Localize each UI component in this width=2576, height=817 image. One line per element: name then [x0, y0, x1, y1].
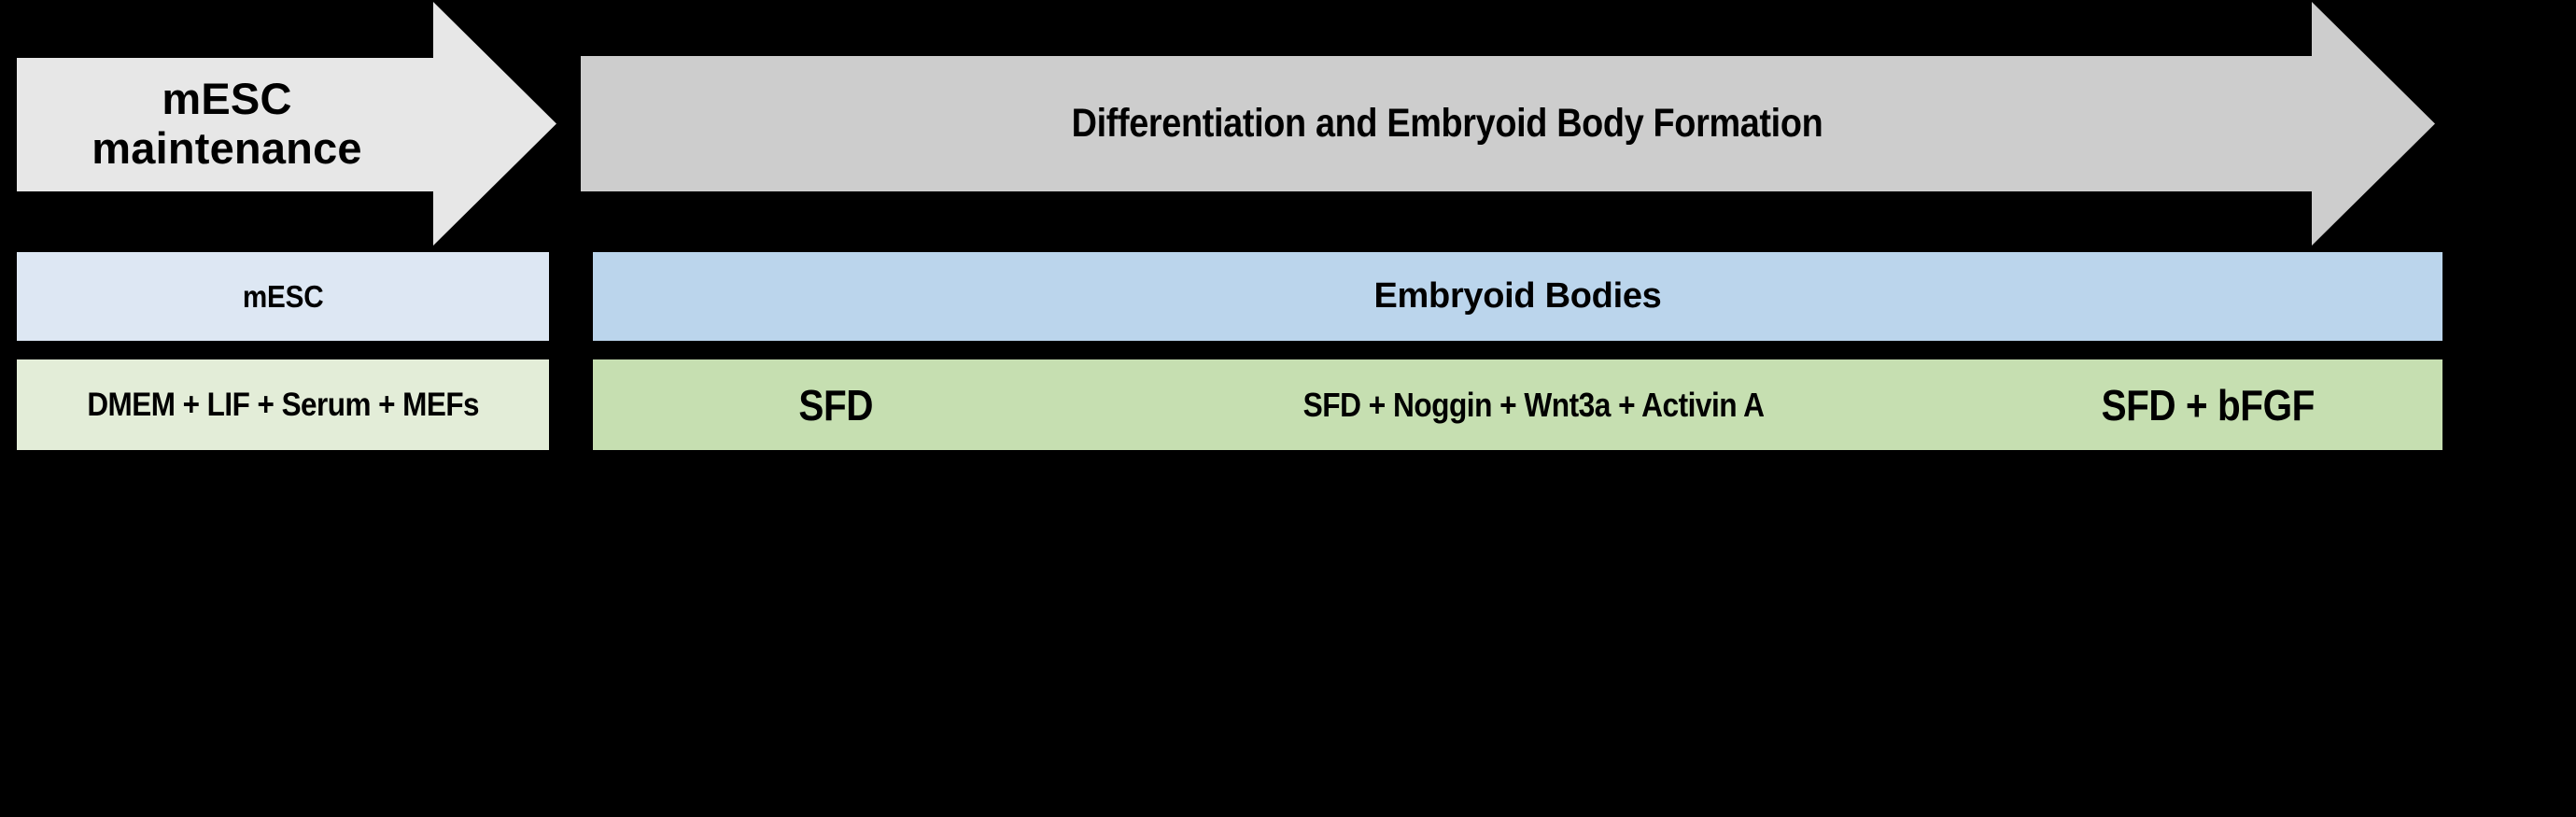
- arrow-shape-icon: [17, 2, 556, 246]
- arrow-differentiation: [581, 2, 2435, 246]
- media-mesc-maintenance-label: DMEM + LIF + Serum + MEFs: [87, 387, 479, 424]
- media-segment-sfd-bfgf: SFD + bFGF: [1975, 359, 2442, 450]
- cell-state-mesc: mESC: [17, 252, 549, 341]
- media-segment-sfd: SFD: [593, 359, 1078, 450]
- media-segment-sfd-bfgf-label: SFD + bFGF: [2102, 380, 2315, 430]
- cell-state-embryoid-bodies: Embryoid Bodies: [593, 252, 2442, 341]
- arrow-shape-icon: [581, 2, 2435, 246]
- media-segment-sfd-noggin-wnt3a-activina-label: SFD + Noggin + Wnt3a + Activin A: [1303, 386, 1765, 425]
- media-mesc-maintenance: DMEM + LIF + Serum + MEFs: [17, 359, 549, 450]
- cell-state-embryoid-bodies-label: Embryoid Bodies: [1374, 276, 1662, 317]
- media-segment-sfd-label: SFD: [798, 380, 873, 430]
- protocol-diagram: mESC maintenance Differentiation and Emb…: [0, 0, 2576, 817]
- media-differentiation: SFD SFD + Noggin + Wnt3a + Activin A SFD…: [593, 359, 2442, 450]
- media-segment-sfd-noggin-wnt3a-activina: SFD + Noggin + Wnt3a + Activin A: [1067, 359, 2001, 450]
- cell-state-mesc-label: mESC: [243, 279, 324, 315]
- arrow-mesc-maintenance: [17, 2, 556, 246]
